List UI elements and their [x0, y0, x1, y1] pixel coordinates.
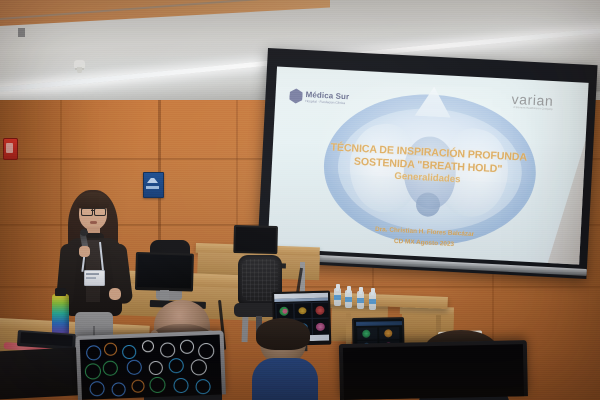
conference-room-photograph: Médica Sur Hospital · Fundación Clínica … — [0, 0, 600, 400]
medica-sur-logo: Médica Sur Hospital · Fundación Clínica — [289, 87, 352, 108]
foreground-monitor[interactable] — [339, 340, 528, 400]
contour-ring — [89, 381, 105, 397]
monitor-bezel — [0, 347, 84, 400]
contour-monitor[interactable] — [76, 330, 226, 400]
varian-logo: varian A Siemens Healthineers Company — [511, 91, 578, 112]
monitor-screen — [235, 227, 276, 252]
contour-screen[interactable] — [80, 335, 222, 400]
contour-ring — [103, 360, 119, 376]
contour-ring — [149, 361, 164, 376]
wall-sign-bar — [146, 186, 159, 189]
foreground-monitor-left[interactable] — [0, 347, 84, 400]
contour-ring — [127, 360, 143, 376]
presenter-hand-right — [109, 288, 121, 300]
fire-alarm-icon — [3, 138, 18, 160]
monitor-screen — [137, 254, 192, 288]
contour-ring — [195, 379, 211, 395]
contour-ring — [142, 340, 154, 352]
contour-ring — [180, 340, 195, 355]
contour-ring — [104, 342, 117, 355]
contour-ring — [85, 363, 102, 380]
contour-ring — [111, 382, 126, 397]
contour-ring — [173, 378, 189, 394]
tps-pane-sagittal[interactable] — [311, 302, 329, 319]
attendee-hair — [256, 318, 310, 350]
contour-ring — [122, 345, 137, 360]
badge-text-line — [86, 277, 96, 279]
medica-sur-tagline: Hospital · Fundación Clínica — [305, 99, 345, 105]
imaging-pane[interactable] — [357, 328, 377, 340]
contour-ring — [131, 379, 144, 392]
fire-alarm-inner — [6, 143, 13, 153]
contour-ring — [191, 359, 208, 376]
glasses-icon — [94, 208, 106, 216]
monitor-stand — [18, 28, 25, 37]
tps-pane-coronal[interactable] — [293, 302, 312, 319]
water-bottle[interactable] — [357, 287, 364, 309]
workstation-monitor-far — [233, 225, 278, 254]
bottle-label — [357, 298, 364, 303]
glasses-bridge — [91, 210, 95, 211]
monitor-screen[interactable] — [343, 344, 524, 400]
badge-text-line — [86, 273, 99, 275]
contour-ring — [149, 377, 166, 394]
water-bottle[interactable] — [369, 288, 376, 310]
imaging-pane[interactable] — [379, 327, 399, 339]
projected-slide: Médica Sur Hospital · Fundación Clínica … — [268, 66, 589, 264]
contour-ring — [198, 343, 215, 360]
workstation-monitor — [135, 252, 194, 292]
presenter-mouth — [90, 221, 97, 224]
contour-ring — [86, 345, 102, 361]
bottle-label — [369, 299, 376, 304]
medica-sur-mark-icon — [289, 88, 303, 104]
water-bottle[interactable] — [334, 284, 341, 306]
presenter-hand-left — [79, 246, 90, 257]
ceiling-wood-panel — [0, 0, 330, 26]
attendee-shoulders — [252, 358, 318, 400]
imaging-toolbar — [356, 321, 403, 326]
bottle-label — [345, 297, 352, 302]
wall-sign — [143, 172, 164, 198]
contour-ring — [168, 358, 184, 374]
contour-ring — [160, 342, 176, 358]
bottle-label — [334, 295, 341, 300]
water-bottle[interactable] — [345, 286, 352, 308]
presenter-hair-top — [77, 192, 109, 209]
thermos-body — [52, 294, 69, 336]
sprinkler-stem — [77, 67, 82, 73]
rainbow-thermos[interactable] — [52, 288, 69, 336]
microphone-head — [80, 229, 88, 236]
attendee-blue-shirt — [252, 318, 318, 400]
thermos-cap — [55, 288, 66, 296]
